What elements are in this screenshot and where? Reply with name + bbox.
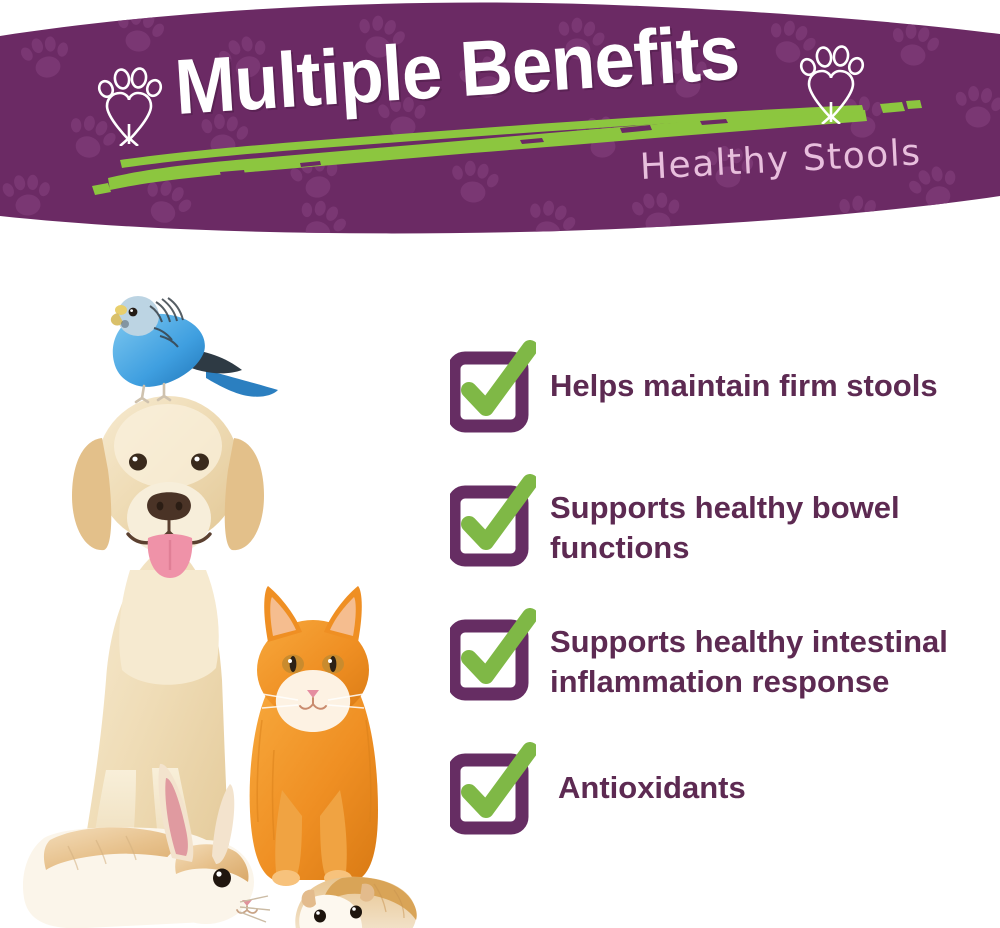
list-item: Helps maintain firm stools — [450, 340, 990, 436]
header-banner: Multiple Benefits Healthy Stools — [0, 0, 1000, 260]
guinea-pig — [295, 877, 416, 928]
list-item: Antioxidants — [450, 742, 990, 838]
list-item-label: Helps maintain firm stools — [536, 340, 938, 406]
checkbox-checked-icon — [450, 608, 536, 704]
list-item-label: Supports healthy bowel functions — [536, 474, 990, 568]
list-item-label: Supports healthy intestinal inflammation… — [536, 608, 990, 702]
pets-photo — [10, 250, 450, 928]
checkbox-checked-icon — [450, 340, 536, 436]
checkbox-checked-icon — [450, 474, 536, 570]
benefits-infographic: Multiple Benefits Healthy Stools — [0, 0, 1000, 928]
checkbox-checked-icon — [450, 742, 536, 838]
cat-ginger — [250, 586, 378, 886]
list-item-label: Antioxidants — [536, 742, 746, 808]
benefits-list: Helps maintain firm stools Supports heal… — [450, 340, 990, 838]
bird-budgerigar — [111, 296, 278, 402]
list-item: Supports healthy intestinal inflammation… — [450, 608, 990, 704]
pets-illustration — [10, 250, 450, 928]
banner-background — [0, 0, 1000, 260]
list-item: Supports healthy bowel functions — [450, 474, 990, 570]
